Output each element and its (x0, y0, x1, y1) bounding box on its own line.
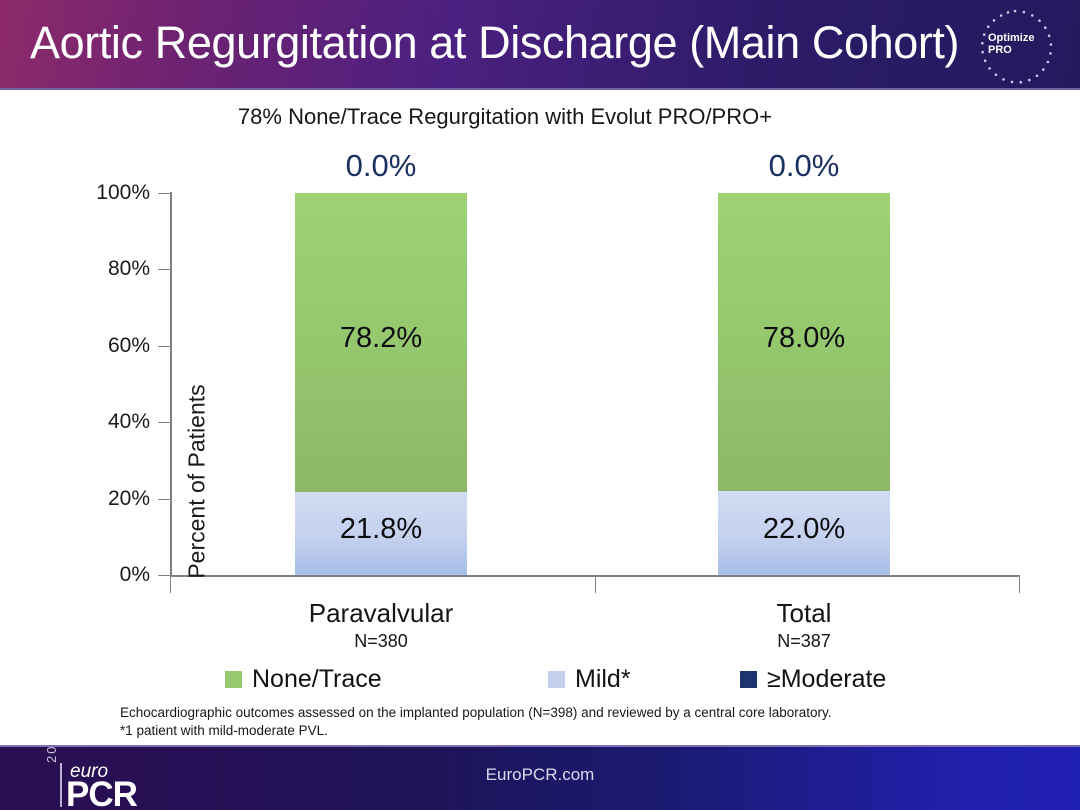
y-axis-tick (158, 499, 170, 500)
optimize-pro-logo-text: Optimize PRO (988, 32, 1044, 56)
x-axis-tick (1019, 577, 1020, 593)
y-axis-tick (158, 422, 170, 423)
y-axis-tick (158, 193, 170, 194)
bar-segment-label: 78.2% (295, 322, 467, 355)
legend-label: None/Trace (252, 665, 382, 693)
y-axis-tick (158, 346, 170, 347)
page-title: Aortic Regurgitation at Discharge (Main … (30, 17, 959, 69)
bar-segment-none-trace: 78.2% (295, 193, 467, 492)
optimize-pro-logo: Optimize PRO (975, 6, 1055, 86)
header-underline (0, 88, 1080, 90)
bar-top-label: 0.0% (718, 148, 890, 184)
footnotes: Echocardiographic outcomes assessed on t… (120, 704, 1020, 740)
legend-item[interactable]: ≥Moderate (740, 665, 886, 694)
bar-stack: 21.8%78.2%0.0% (295, 193, 467, 575)
bar-top-label: 0.0% (295, 148, 467, 184)
footnote-line: Echocardiographic outcomes assessed on t… (120, 704, 1020, 722)
y-axis-tick-label: 100% (60, 181, 150, 205)
chart-title: 78% None/Trace Regurgitation with Evolut… (0, 104, 1010, 130)
legend-swatch (740, 671, 757, 688)
chart-legend: None/TraceMild*≥Moderate (170, 665, 930, 699)
legend-item[interactable]: Mild* (548, 665, 631, 694)
x-axis-tick (170, 577, 171, 593)
plot-area: Percent of Patients 21.8%78.2%0.0%22.0%7… (170, 193, 1020, 575)
x-axis-category-n: N=380 (221, 631, 541, 652)
x-axis-category-label: Paravalvular (221, 598, 541, 629)
legend-label: ≥Moderate (767, 665, 886, 693)
y-axis-tick-label: 40% (60, 410, 150, 434)
slide-header: Aortic Regurgitation at Discharge (Main … (0, 0, 1080, 90)
legend-label: Mild* (575, 665, 631, 693)
x-axis-category-label: Total (644, 598, 964, 629)
y-axis-tick-label: 80% (60, 257, 150, 281)
legend-swatch (225, 671, 242, 688)
y-axis-tick-label: 60% (60, 334, 150, 358)
bar-stack: 22.0%78.0%0.0% (718, 193, 890, 575)
legend-swatch (548, 671, 565, 688)
bar-segment-label: 78.0% (718, 322, 890, 355)
footer-url: EuroPCR.com (0, 765, 1080, 785)
x-axis-tick (595, 577, 596, 593)
y-axis-label: Percent of Patients (184, 317, 211, 647)
optimize-pro-line1: Optimize (988, 32, 1044, 44)
footnote-line: *1 patient with mild-moderate PVL. (120, 722, 1020, 740)
y-axis-tick (158, 269, 170, 270)
y-axis-tick-label: 20% (60, 487, 150, 511)
bar-segment-label: 21.8% (295, 513, 467, 546)
bar-segment-label: 22.0% (718, 513, 890, 546)
europcr-year: 2022 (44, 745, 59, 763)
x-axis-category-n: N=387 (644, 631, 964, 652)
bar-segment-none-trace: 78.0% (718, 193, 890, 491)
footer-divider (0, 745, 1080, 747)
y-axis-tick-label: 0% (60, 563, 150, 587)
bar-segment-mild: 21.8% (295, 492, 467, 575)
bar-segment-mild: 22.0% (718, 491, 890, 575)
optimize-pro-line2: PRO (988, 44, 1044, 56)
y-axis-tick (158, 575, 170, 576)
legend-item[interactable]: None/Trace (225, 665, 382, 694)
